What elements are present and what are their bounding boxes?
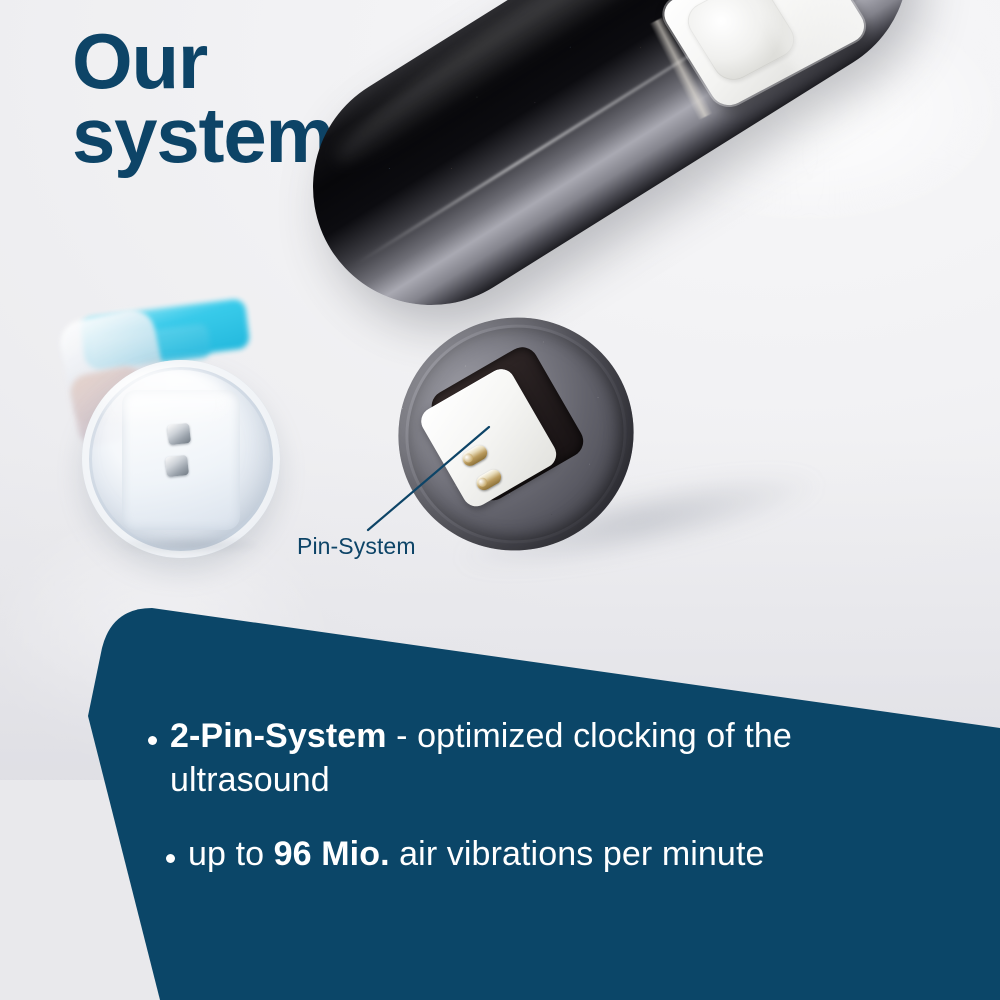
bullet-text-1: 2-Pin-System - optimized clocking of the… <box>170 714 938 802</box>
bullet-item-2: up to 96 Mio. air vibrations per minute <box>166 832 938 876</box>
slide-canvas: Our system <box>0 0 1000 1000</box>
bullet-dot-icon <box>148 736 157 745</box>
bullet-dot-icon <box>166 854 175 863</box>
bullet-item-1: 2-Pin-System - optimized clocking of the… <box>148 714 938 802</box>
bullet-text-2: up to 96 Mio. air vibrations per minute <box>188 832 938 876</box>
info-panel-content: 2-Pin-System - optimized clocking of the… <box>148 714 938 877</box>
